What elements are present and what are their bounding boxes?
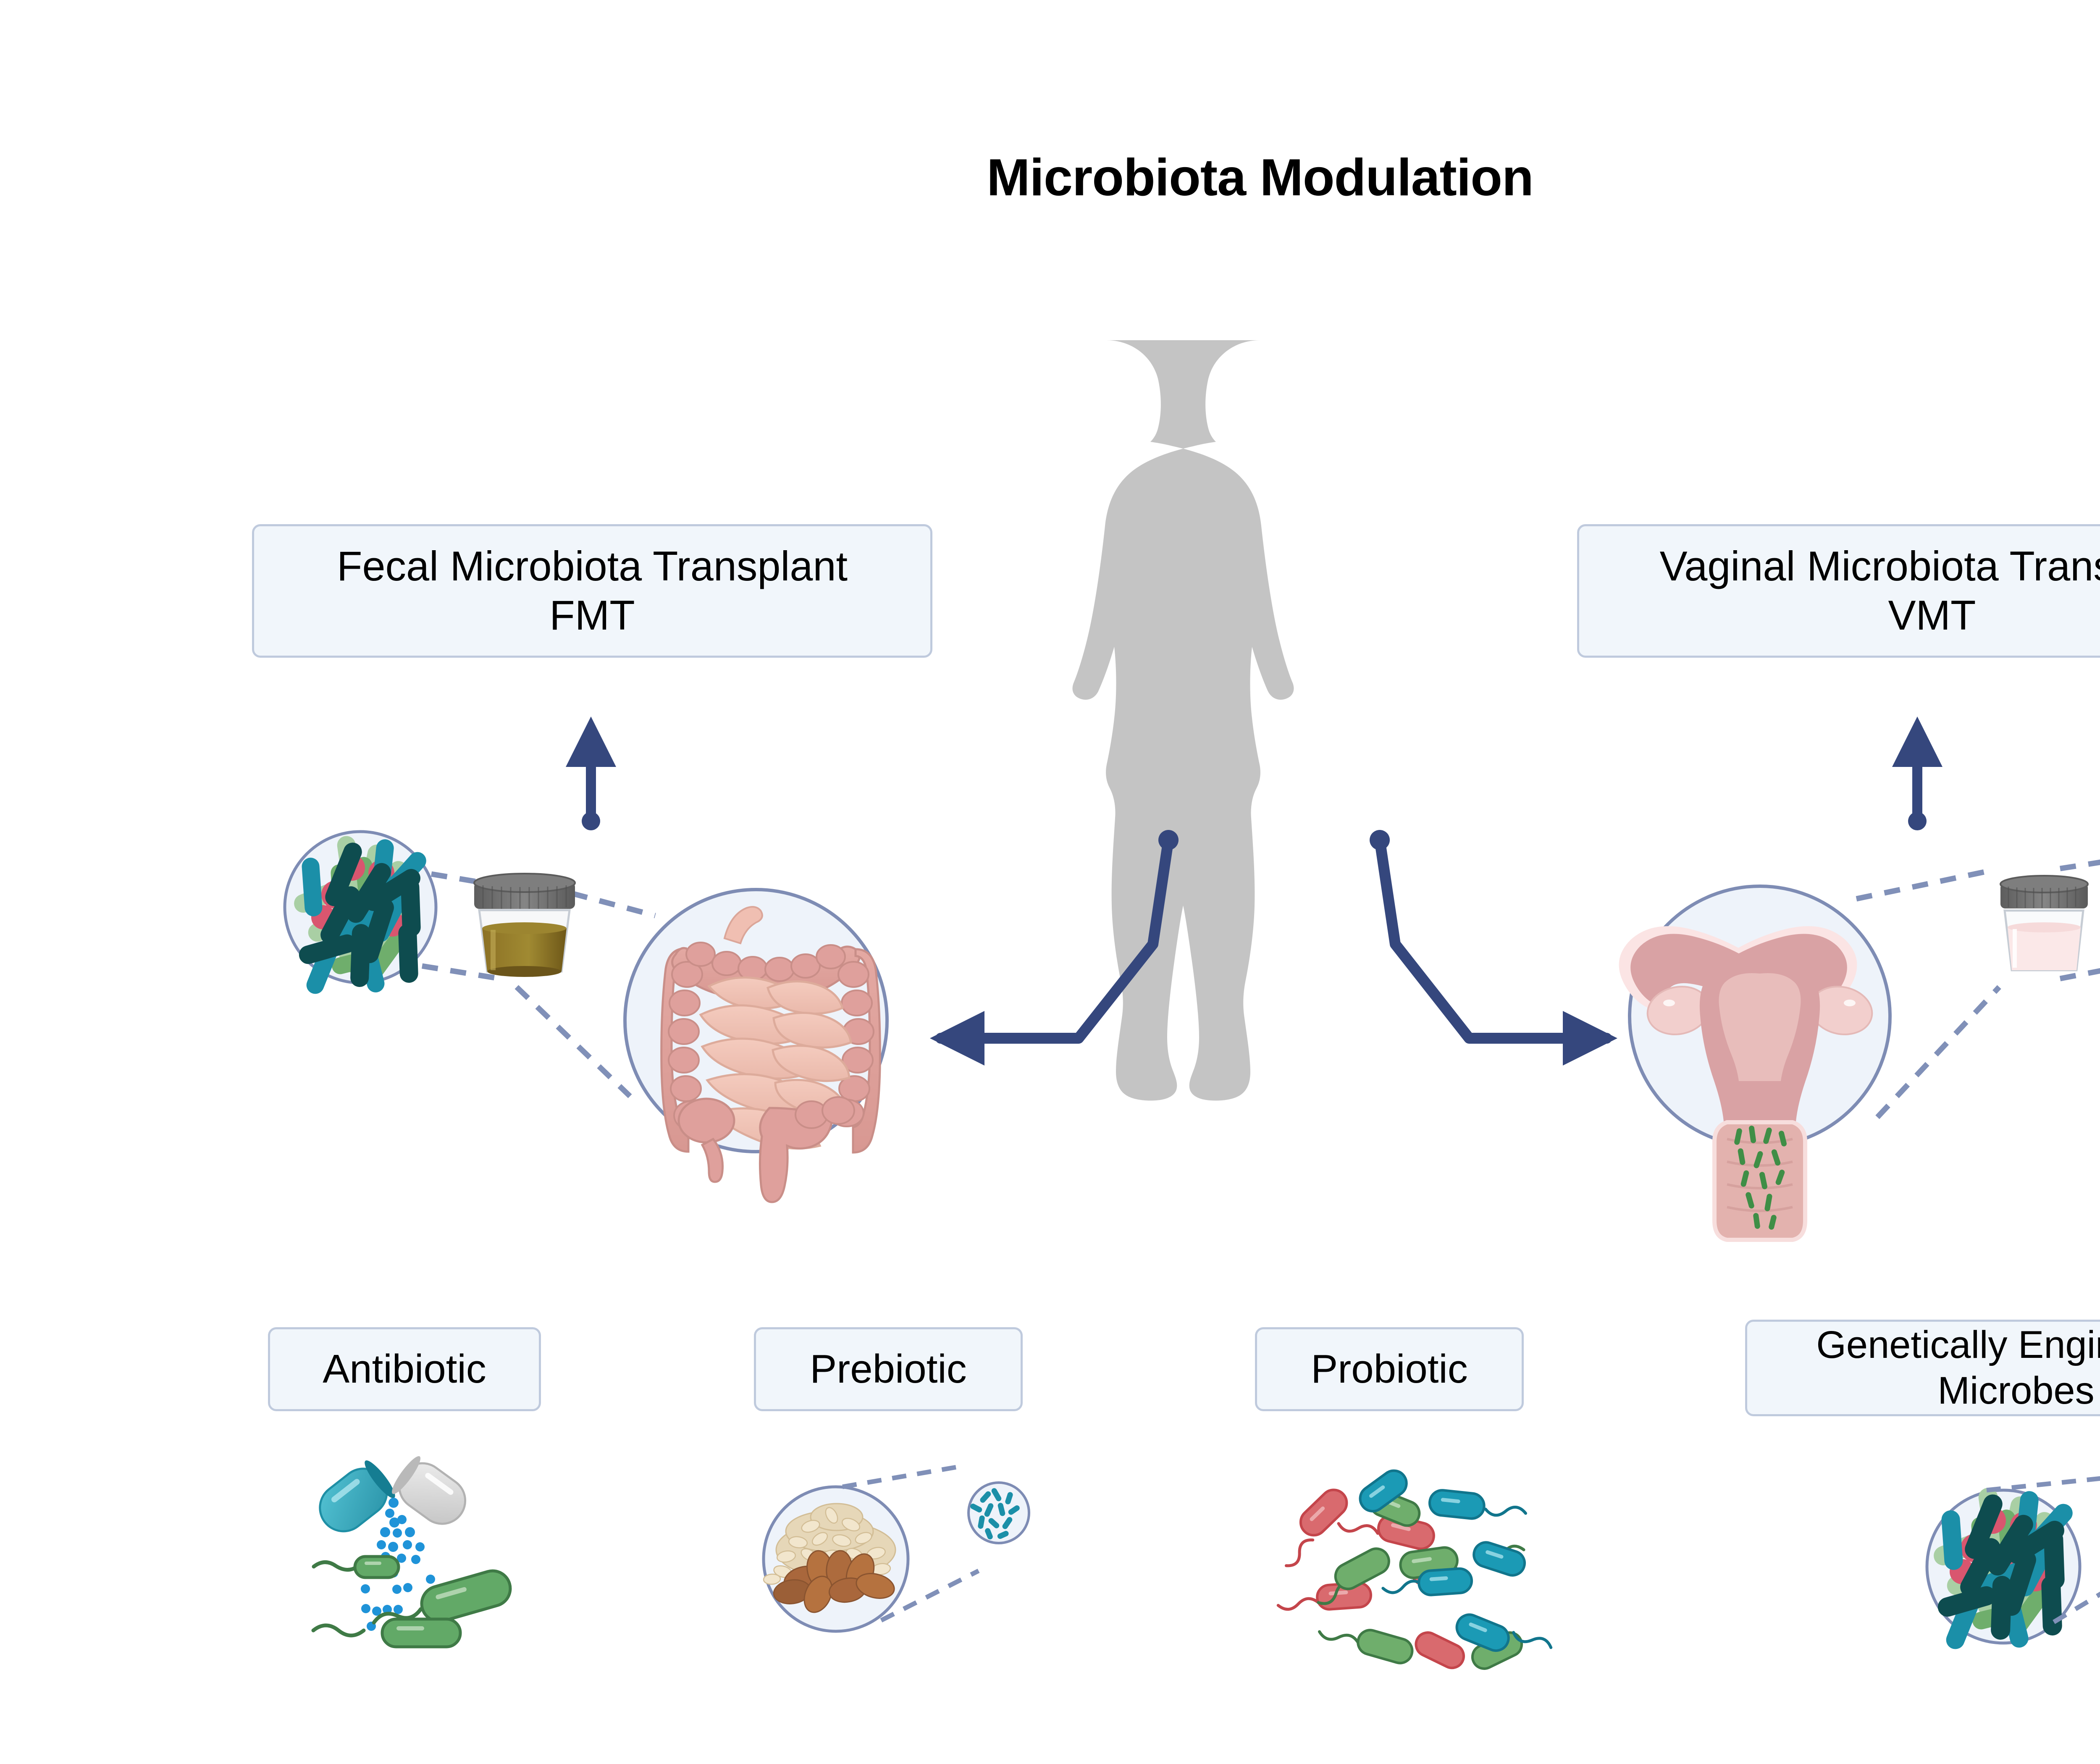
label-prebiotic: Prebiotic: [810, 1345, 967, 1393]
label-antibiotic: Antibiotic: [323, 1345, 486, 1393]
stool-sample-container: [474, 874, 575, 977]
label-box-genetically-engineered-microbes[interactable]: Genetically Engineered Microbes: [1745, 1320, 2100, 1416]
gem-icon: [1927, 1474, 2100, 1652]
diagram-artwork: [0, 0, 2100, 1764]
label-box-fmt[interactable]: Fecal Microbiota Transplant FMT: [252, 524, 932, 658]
arrow-vmt-up: [1908, 727, 1927, 830]
arrow-fmt-up: [582, 727, 600, 830]
label-box-prebiotic[interactable]: Prebiotic: [754, 1327, 1023, 1411]
uterus-circle: [1619, 886, 1890, 1240]
human-figure: [1073, 340, 1294, 1100]
label-vmt: Vaginal Microbiota Transplant VMT: [1660, 542, 2100, 640]
label-box-vmt[interactable]: Vaginal Microbiota Transplant VMT: [1577, 524, 2100, 658]
antibiotic-icon: [310, 1453, 514, 1647]
prebiotic-icon: [763, 1467, 1029, 1631]
label-box-probiotic[interactable]: Probiotic: [1255, 1327, 1524, 1411]
label-probiotic: Probiotic: [1311, 1345, 1468, 1393]
label-genetically-engineered-microbes: Genetically Engineered Microbes: [1816, 1322, 2100, 1413]
label-fmt: Fecal Microbiota Transplant FMT: [337, 542, 848, 640]
prebiotic-bacteria-mini-circle: [969, 1483, 1029, 1543]
arrow-to-vagina: [1370, 830, 1606, 1038]
page-title: Microbiota Modulation: [0, 148, 2100, 207]
label-box-antibiotic[interactable]: Antibiotic: [268, 1327, 541, 1411]
intestine-circle: [625, 890, 887, 1202]
gut-microbiota-circle: [285, 832, 436, 997]
probiotic-icon: [1269, 1466, 1553, 1673]
vaginal-sample-container: [2000, 876, 2088, 970]
